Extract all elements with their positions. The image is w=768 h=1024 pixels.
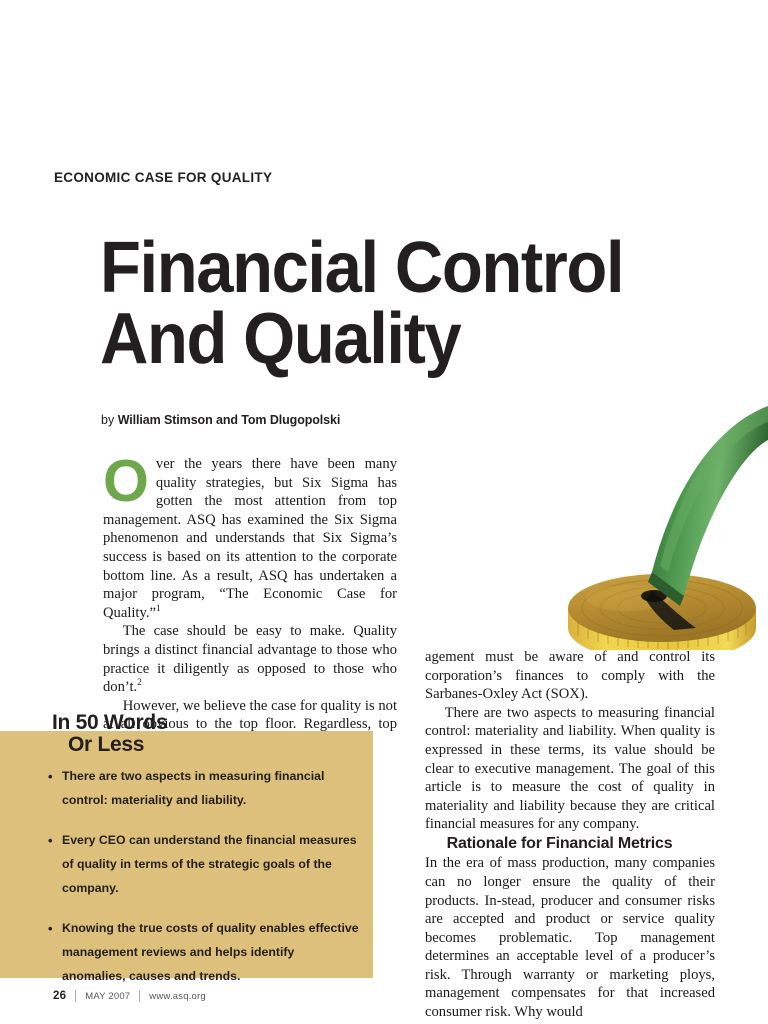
in-50-words-heading-line-1: In 50 Words [52, 711, 167, 734]
list-item: There are two aspects in measuring finan… [48, 765, 360, 813]
footer-issue: MAY 2007 [85, 991, 130, 1002]
footer-divider [75, 990, 76, 1002]
paragraph: There are two aspects to measuring finan… [425, 704, 715, 834]
footnote-ref: 2 [137, 677, 142, 687]
footer-url: www.asq.org [149, 991, 206, 1002]
paragraph-text: The case should be easy to make. Quality… [103, 623, 397, 695]
in-50-words-heading: In 50 Words Or Less [52, 712, 372, 755]
magazine-page: ECONOMIC CASE FOR QUALITY Financial Cont… [0, 0, 768, 1024]
paragraph: The case should be easy to make. Quality… [103, 622, 397, 696]
list-item: Knowing the true costs of quality enable… [48, 917, 360, 989]
headline-line-2: And Quality [100, 304, 695, 375]
page-title: Financial Control And Quality [100, 233, 695, 374]
article-illustration [556, 400, 768, 650]
in-50-words-list: There are two aspects in measuring finan… [48, 765, 360, 1005]
headline-line-1: Financial Control [100, 233, 695, 304]
list-item: Every CEO can understand the financial m… [48, 829, 360, 901]
section-subhead: Rationale for Financial Metrics [425, 834, 715, 854]
footnote-ref: 1 [156, 603, 161, 613]
page-footer: 26 MAY 2007 www.asq.org [53, 990, 206, 1002]
byline-authors: William Stimson and Tom Dlugopolski [118, 413, 341, 427]
in-50-words-heading-line-2: Or Less [52, 734, 372, 756]
paragraph: agement must be aware of and control its… [425, 648, 715, 704]
body-column-right: agement must be aware of and control its… [425, 648, 715, 1022]
paragraph: Over the years there have been many qual… [103, 455, 397, 622]
green-band-piercing-gold-coin-icon [556, 400, 768, 650]
paragraph: In the era of mass production, many comp… [425, 854, 715, 1021]
drop-cap: O [103, 458, 149, 504]
body-column-left: Over the years there have been many qual… [103, 455, 397, 753]
byline: by William Stimson and Tom Dlugopolski [101, 413, 340, 427]
byline-prefix: by [101, 413, 118, 427]
footer-divider [139, 990, 140, 1002]
section-kicker: ECONOMIC CASE FOR QUALITY [54, 170, 272, 185]
page-number: 26 [53, 990, 66, 1002]
